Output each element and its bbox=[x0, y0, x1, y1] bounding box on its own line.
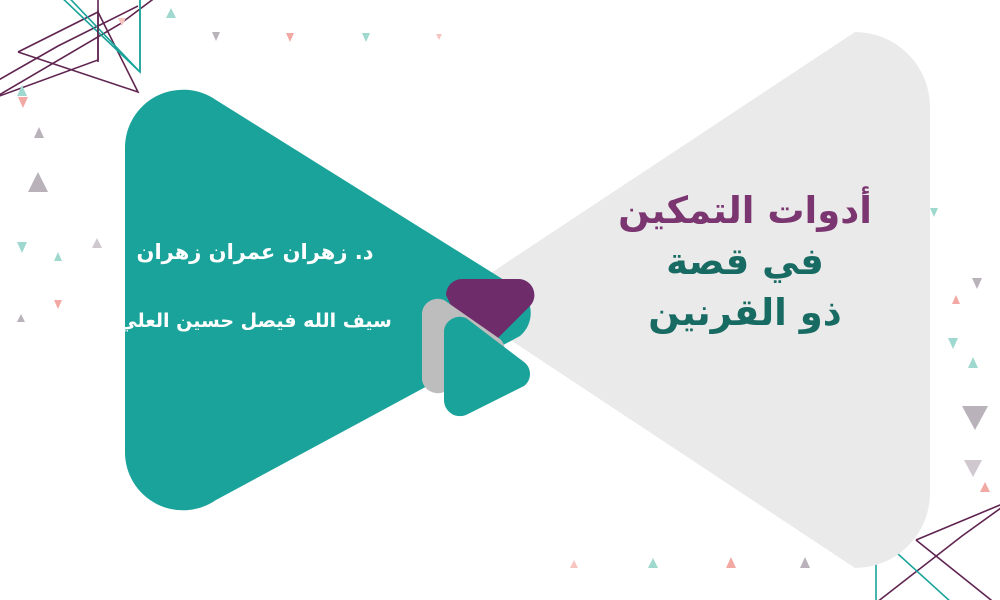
three-play-triangles-logo bbox=[0, 0, 1000, 600]
presentation-cover-slide: أدوات التمكين في قصة ذو القرنين د. زهران… bbox=[0, 0, 1000, 600]
